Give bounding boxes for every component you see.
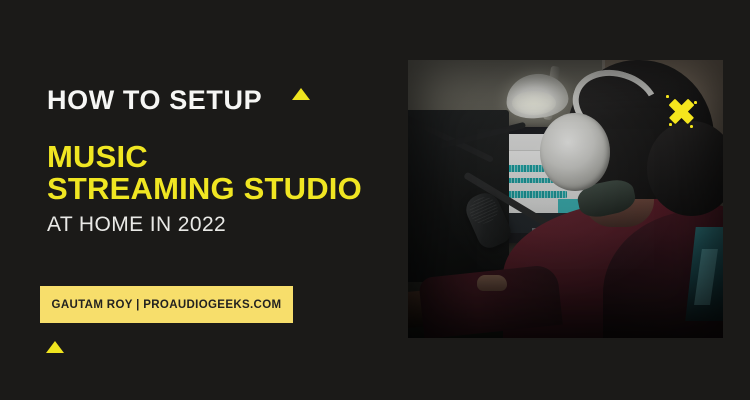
headline: MUSIC STREAMING STUDIO — [47, 141, 362, 205]
desk-lamp-glow — [512, 91, 556, 115]
thumbnail-canvas: HOW TO SETUP MUSIC STREAMING STUDIO AT H… — [0, 0, 750, 400]
sparkle-dot — [669, 123, 672, 126]
headphone-earcup — [540, 113, 609, 191]
headline-line-2: STREAMING STUDIO — [47, 173, 362, 205]
sparkle-dot — [694, 101, 697, 104]
sparkle-dot — [690, 125, 693, 128]
sparkle-x-icon — [664, 94, 698, 128]
sparkle-dot — [666, 95, 669, 98]
eyebrow-text: HOW TO SETUP — [47, 86, 262, 114]
person-hand — [477, 275, 507, 291]
triangle-up-icon-top — [292, 88, 310, 100]
triangle-up-icon-bottom — [46, 341, 64, 353]
headline-line-1: MUSIC — [47, 141, 362, 173]
author-badge[interactable]: GAUTAM ROY | PROAUDIOGEEKS.COM — [40, 286, 293, 323]
author-badge-label: GAUTAM ROY | PROAUDIOGEEKS.COM — [52, 299, 282, 311]
beanie-fold — [647, 121, 723, 216]
microphone-grille — [466, 194, 502, 228]
subhead-text: AT HOME IN 2022 — [47, 214, 226, 236]
